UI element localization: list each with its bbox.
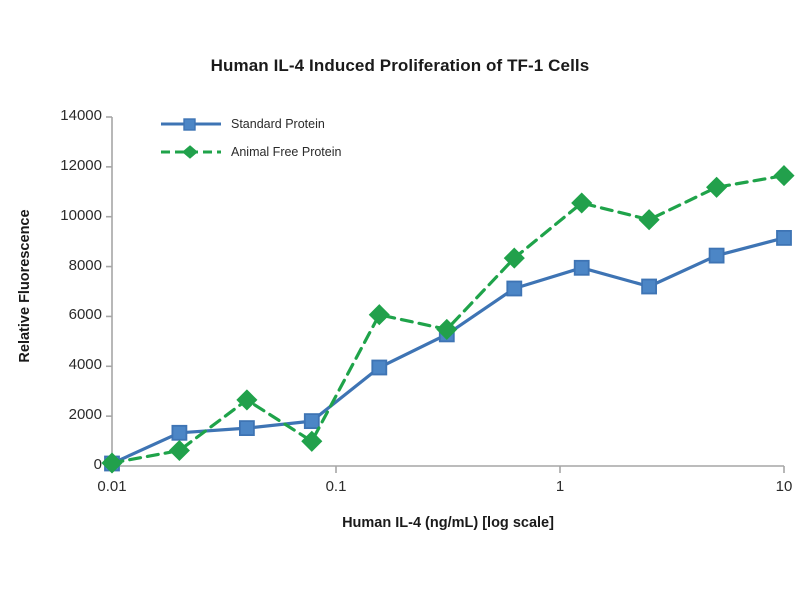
y-axis-tick-label: 10000 <box>30 207 102 224</box>
data-point-marker <box>372 361 386 375</box>
chart-figure: Human IL-4 Induced Proliferation of TF-1… <box>0 0 800 600</box>
data-point-marker <box>710 249 724 263</box>
chart-legend: Standard Protein Animal Free Protein <box>160 110 341 166</box>
data-point-marker <box>707 178 726 197</box>
y-axis-tick-label: 12000 <box>30 157 102 174</box>
data-point-marker <box>172 426 186 440</box>
legend-swatch-standard-protein <box>160 117 222 131</box>
data-point-marker <box>575 261 589 275</box>
data-point-marker <box>240 421 254 435</box>
data-point-marker <box>302 432 321 451</box>
x-axis-tick-label: 0.1 <box>306 478 366 495</box>
legend-swatch-animal-free-protein <box>160 145 222 159</box>
x-axis-tick-label: 1 <box>530 478 590 495</box>
legend-item-standard-protein: Standard Protein <box>160 110 341 138</box>
data-point-marker <box>775 166 794 185</box>
data-point-marker <box>370 305 389 324</box>
data-point-marker <box>305 414 319 428</box>
legend-item-animal-free-protein: Animal Free Protein <box>160 138 341 166</box>
legend-label-standard-protein: Standard Protein <box>231 117 325 131</box>
legend-label-animal-free-protein: Animal Free Protein <box>231 145 341 159</box>
y-axis-tick-label: 0 <box>30 456 102 473</box>
series-line-standard-protein <box>112 238 784 464</box>
data-point-marker <box>640 210 659 229</box>
y-axis-tick-label: 2000 <box>30 406 102 423</box>
y-axis-tick-label: 8000 <box>30 257 102 274</box>
plot-area <box>0 0 800 600</box>
data-point-marker <box>777 231 791 245</box>
series-line-animal-free-protein <box>112 176 784 463</box>
y-axis-tick-label: 14000 <box>30 107 102 124</box>
x-axis-tick-label: 10 <box>754 478 800 495</box>
x-axis-tick-label: 0.01 <box>82 478 142 495</box>
data-point-marker <box>642 280 656 294</box>
y-axis-tick-label: 4000 <box>30 356 102 373</box>
y-axis-tick-label: 6000 <box>30 306 102 323</box>
data-point-marker <box>507 282 521 296</box>
